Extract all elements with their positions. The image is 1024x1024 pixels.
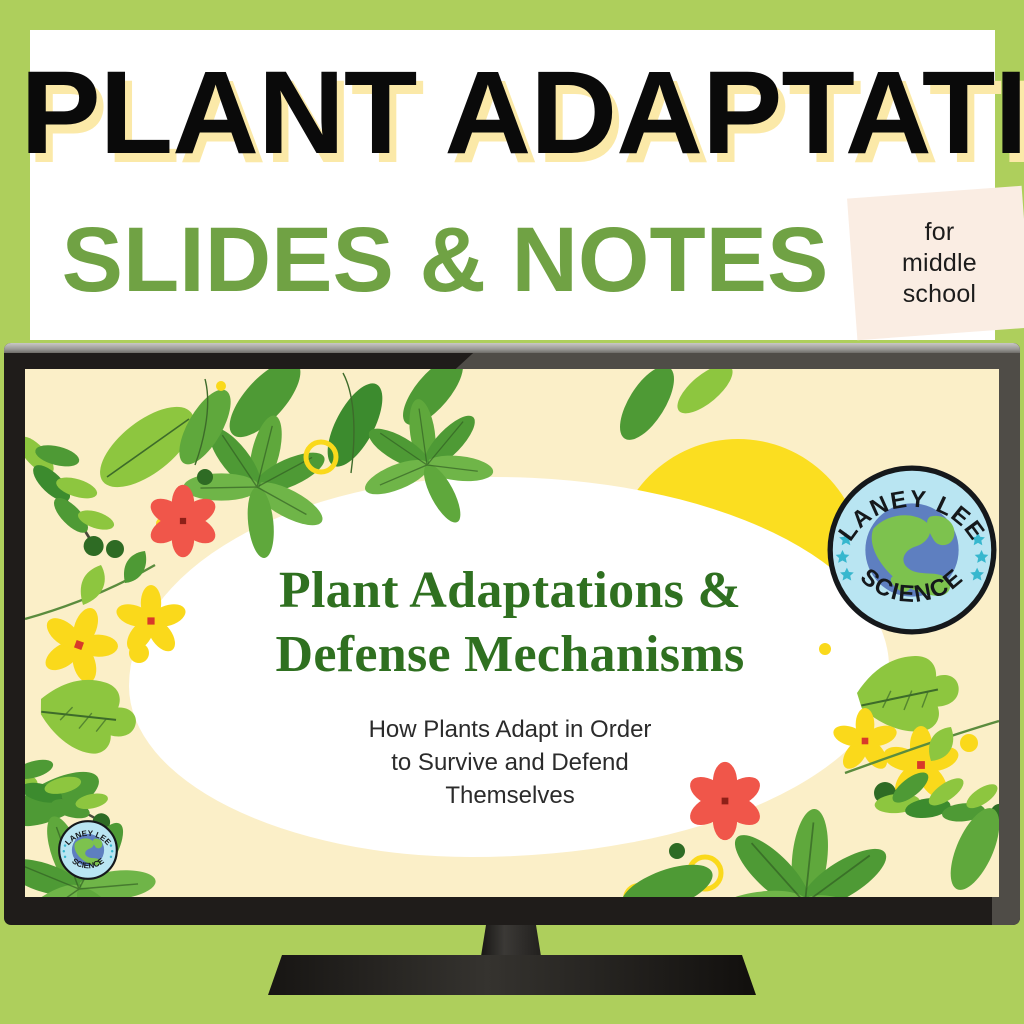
yellow-flower-left-a bbox=[114, 585, 189, 656]
yellow-flower-left-b bbox=[28, 594, 130, 694]
audience-tag: for middle school bbox=[847, 186, 1024, 340]
audience-tag-line2: middle bbox=[902, 248, 977, 279]
laney-lee-science-logo: LANEY LEE SCIENCE bbox=[824, 462, 1000, 638]
slide-subtitle-line2: to Survive and Defend bbox=[185, 746, 835, 779]
slide-title-line2: Defense Mechanisms bbox=[185, 623, 835, 687]
slide-title-line1: Plant Adaptations & bbox=[185, 559, 835, 623]
yellow-dot-c bbox=[216, 381, 226, 391]
audience-tag-line1: for bbox=[902, 217, 977, 248]
tv-stand-base bbox=[268, 955, 756, 995]
slide-subtitle: How Plants Adapt in Order to Survive and… bbox=[185, 713, 835, 812]
main-title: PLANT ADAPTATIONS bbox=[20, 52, 1004, 174]
product-type-label: SLIDES & NOTES bbox=[30, 212, 860, 308]
green-dot-a bbox=[197, 469, 213, 485]
audience-tag-text: for middle school bbox=[902, 217, 977, 310]
slide-subtitle-line3: Themselves bbox=[185, 779, 835, 812]
green-dot-right bbox=[669, 843, 685, 859]
main-title-group: PLANT ADAPTATIONS PLANT ADAPTATIONS bbox=[30, 52, 995, 182]
audience-tag-line3: school bbox=[902, 279, 977, 310]
poster-canvas: PLANT ADAPTATIONS PLANT ADAPTATIONS SLID… bbox=[0, 0, 1024, 1024]
header-card: PLANT ADAPTATIONS PLANT ADAPTATIONS SLID… bbox=[30, 30, 995, 340]
oval-leaf-top-c bbox=[317, 373, 394, 475]
tv-top-gloss bbox=[4, 343, 1020, 353]
oak-leaf-bottomleft bbox=[33, 672, 142, 761]
oval-leaf-top-e bbox=[609, 369, 740, 448]
slide-text-block: Plant Adaptations & Defense Mechanisms H… bbox=[185, 559, 835, 812]
green-dot-b bbox=[106, 540, 124, 558]
laney-lee-science-logo-small: LANEY LEE SCIENCE bbox=[57, 819, 119, 881]
yellow-dot-bottom-right bbox=[960, 734, 978, 752]
slide-subtitle-line1: How Plants Adapt in Order bbox=[185, 713, 835, 746]
subtitle-group: SLIDES & NOTES bbox=[30, 212, 860, 322]
slide-title: Plant Adaptations & Defense Mechanisms bbox=[185, 559, 835, 687]
